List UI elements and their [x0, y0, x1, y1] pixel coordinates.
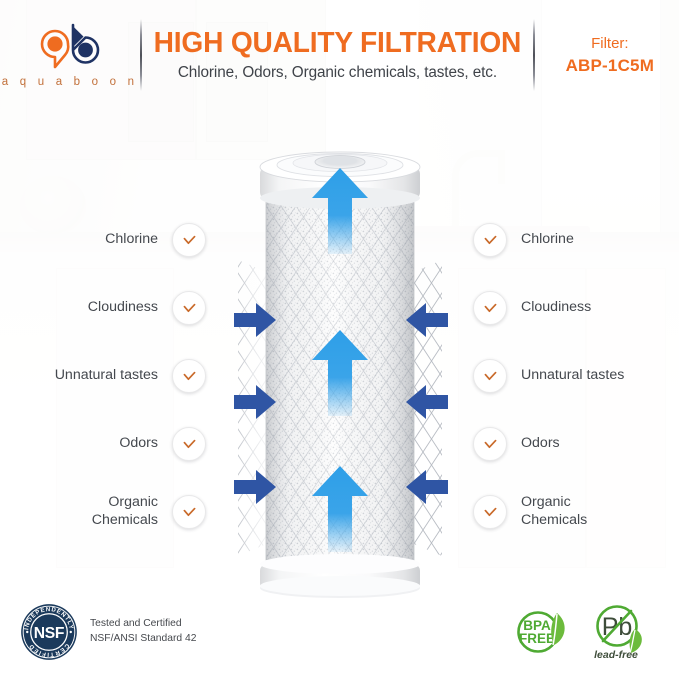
check-icon — [473, 359, 507, 393]
feature-item-chlorine-left[interactable]: Chlorine — [30, 206, 206, 274]
nsf-seal-icon: INDEPENDENTLY CERTIFIED NSF — [20, 603, 78, 661]
inlet-flow-arrow-right-3 — [406, 470, 448, 504]
svg-text:lead-free: lead-free — [594, 649, 638, 661]
inlet-flow-arrow-left-1 — [234, 303, 276, 337]
check-icon — [172, 359, 206, 393]
feature-list-left: Chlorine Cloudiness Unnatural tastes Odo… — [30, 206, 206, 546]
nsf-certification: INDEPENDENTLY CERTIFIED NSF Tested and C… — [20, 603, 196, 661]
feature-label: Unnatural tastes — [521, 367, 624, 385]
feature-label: Chlorine — [105, 231, 158, 249]
outlet-flow-arrow-bottom — [312, 466, 368, 557]
check-icon — [473, 291, 507, 325]
feature-label: Organic Chemicals — [521, 494, 587, 530]
feature-item-odors-right[interactable]: Odors — [473, 410, 649, 478]
page-title: HIGH QUALITY FILTRATION — [154, 28, 521, 58]
headline-block: HIGH QUALITY FILTRATION Chlorine, Odors,… — [142, 28, 533, 82]
feature-label: Odors — [119, 435, 158, 453]
aquaboon-ab-monogram-icon — [37, 23, 103, 69]
check-icon — [172, 427, 206, 461]
check-icon — [473, 223, 507, 257]
filter-model-code: ABP-1C5M — [566, 56, 655, 76]
feature-label: Chlorine — [521, 231, 574, 249]
check-icon — [172, 495, 206, 529]
brand-wordmark: a q u a b o o n — [2, 76, 139, 88]
inlet-flow-arrow-right-2 — [406, 385, 448, 419]
footer-certifications: INDEPENDENTLY CERTIFIED NSF Tested and C… — [0, 595, 679, 673]
feature-label: Unnatural tastes — [55, 367, 158, 385]
feature-label: Organic Chemicals — [92, 494, 158, 530]
feature-item-cloudiness-right[interactable]: Cloudiness — [473, 274, 649, 342]
eco-badges: BPA FREE Pb lead-free — [511, 603, 661, 661]
feature-item-unnatural-tastes-right[interactable]: Unnatural tastes — [473, 342, 649, 410]
inlet-flow-arrow-left-3 — [234, 470, 276, 504]
feature-label: Cloudiness — [88, 299, 158, 317]
check-icon — [172, 223, 206, 257]
feature-item-odors-left[interactable]: Odors — [30, 410, 206, 478]
outlet-flow-arrow-top — [312, 168, 368, 259]
bpa-free-badge-icon: BPA FREE — [511, 606, 571, 658]
feature-item-cloudiness-left[interactable]: Cloudiness — [30, 274, 206, 342]
lead-free-badge-icon: Pb lead-free — [589, 603, 651, 661]
feature-item-unnatural-tastes-left[interactable]: Unnatural tastes — [30, 342, 206, 410]
inlet-flow-arrow-right-1 — [406, 303, 448, 337]
feature-item-organic-chemicals-right[interactable]: Organic Chemicals — [473, 478, 649, 546]
nsf-caption: Tested and Certified NSF/ANSI Standard 4… — [90, 617, 196, 647]
feature-item-organic-chemicals-left[interactable]: Organic Chemicals — [30, 478, 206, 546]
feature-label: Cloudiness — [521, 299, 591, 317]
feature-list-right: Chlorine Cloudiness Unnatural tastes Odo… — [473, 206, 649, 546]
check-icon — [473, 495, 507, 529]
feature-item-chlorine-right[interactable]: Chlorine — [473, 206, 649, 274]
page-subtitle: Chlorine, Odors, Organic chemicals, tast… — [178, 64, 497, 82]
inlet-flow-arrow-left-2 — [234, 385, 276, 419]
check-icon — [172, 291, 206, 325]
svg-text:FREE: FREE — [519, 631, 555, 646]
brand-logo: a q u a b o o n — [0, 23, 140, 88]
check-icon — [473, 427, 507, 461]
outlet-flow-arrow-middle — [312, 330, 368, 421]
feature-label: Odors — [521, 435, 560, 453]
filter-model-label: Filter: — [591, 35, 629, 52]
header-banner: a q u a b o o n HIGH QUALITY FILTRATION … — [0, 0, 679, 110]
svg-text:NSF: NSF — [34, 625, 64, 642]
cartridge-bottom-cap — [260, 554, 420, 598]
filter-model-block: Filter: ABP-1C5M — [535, 35, 679, 76]
